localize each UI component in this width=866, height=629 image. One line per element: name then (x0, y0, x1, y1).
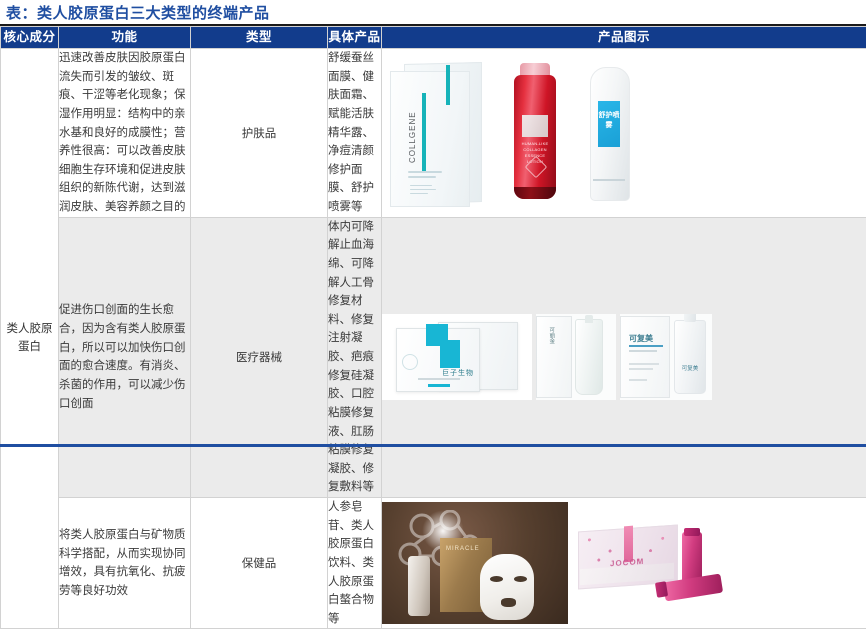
mask-brand-label: COLLGENE (408, 99, 420, 163)
figure-title-bar: 表：类人胶原蛋白三大类型的终端产品 (0, 0, 866, 26)
core-ingredient-cell: 类人胶原蛋白 (1, 49, 59, 629)
products-cell: 体内可降解止血海绵、可降解人工骨修复材料、修复注射凝胶、疤痕修复硅凝胶、口腔粘膜… (328, 217, 382, 497)
function-cell: 将类人胶原蛋白与矿物质科学搭配，从而实现协同增效，具有抗氧化、抗疲劳等良好功效 (59, 498, 191, 629)
type-cell: 医疗器械 (191, 217, 328, 497)
table-bottom-rule (0, 444, 866, 447)
column-header-function: 功能 (59, 27, 191, 49)
table-row: 促进伤口创面的生长愈合，因为含有类人胶原蛋白，所以可以加快伤口创面的愈合速度。有… (1, 217, 866, 497)
collagen-drink-gift-set-image: JOCOM (572, 502, 732, 624)
column-header-core: 核心成分 (1, 27, 59, 49)
spray-brand-label: 舒护喷雾 (598, 111, 620, 131)
column-header-type: 类型 (191, 27, 328, 49)
table-body: 类人胶原蛋白 迅速改善皮肤因胶原蛋白流失而引发的皱纹、斑痕、干涩等老化现象；保湿… (1, 49, 866, 629)
repair-gel-tube-image: 可丽金 (536, 314, 616, 400)
mucosa-repair-carton-image: 可复美 可复美 (620, 314, 712, 400)
column-header-products: 具体产品 (328, 27, 382, 49)
products-cell: 舒缓蚕丝面膜、健肤面霜、赋能活肤精华露、净痘清颜修护面膜、舒护喷雾等 (328, 49, 382, 218)
ad-brand-label: MIRACLE (446, 546, 480, 552)
product-image-cell: 巨子生物 可丽金 (382, 217, 866, 497)
table-figure: 表：类人胶原蛋白三大类型的终端产品 核心成分 功能 类型 具体产品 产品图示 类… (0, 0, 866, 452)
column-header-image: 产品图示 (382, 27, 866, 49)
medical-device-boxes-image: 巨子生物 (382, 314, 532, 400)
skincare-ad-image: MIRACLE (382, 502, 568, 624)
products-table: 核心成分 功能 类型 具体产品 产品图示 类人胶原蛋白 迅速改善皮肤因胶原蛋白流… (0, 26, 866, 629)
soothing-spray-can-image: 舒护喷雾 (576, 59, 642, 207)
page-title: 表：类人胶原蛋白三大类型的终端产品 (6, 2, 270, 23)
type-cell: 保健品 (191, 498, 328, 629)
pump-brand-label: 可复美 (678, 365, 702, 373)
box-brand-label: 巨子生物 (442, 368, 474, 378)
carton-brand-label: 可复美 (629, 333, 653, 344)
red-essence-lotion-image: HUMAN-LIKE COLLAGEN ESSENCE LOTION (498, 59, 572, 207)
table-header-row: 核心成分 功能 类型 具体产品 产品图示 (1, 27, 866, 49)
table-header: 核心成分 功能 类型 具体产品 产品图示 (1, 27, 866, 49)
products-cell: 人参皂苷、类人胶原蛋白饮料、类人胶原蛋白螯合物等 (328, 498, 382, 629)
type-cell: 护肤品 (191, 49, 328, 218)
function-cell: 促进伤口创面的生长愈合，因为含有类人胶原蛋白，所以可以加快伤口创面的愈合速度。有… (59, 217, 191, 497)
table-row: 将类人胶原蛋白与矿物质科学搭配，从而实现协同增效，具有抗氧化、抗疲劳等良好功效 … (1, 498, 866, 629)
card-brand-label: 可丽金 (547, 327, 555, 383)
product-image-cell: MIRACLE JOCOM (382, 498, 866, 629)
table-row: 类人胶原蛋白 迅速改善皮肤因胶原蛋白流失而引发的皱纹、斑痕、干涩等老化现象；保湿… (1, 49, 866, 218)
collagen-mask-packets-image: COLLGENE (382, 59, 494, 207)
function-cell: 迅速改善皮肤因胶原蛋白流失而引发的皱纹、斑痕、干涩等老化现象；保湿作用明显：结构… (59, 49, 191, 218)
product-image-cell: COLLGENE HUMAN-LIKE COLLAGEN ESSENCE LOT… (382, 49, 866, 218)
